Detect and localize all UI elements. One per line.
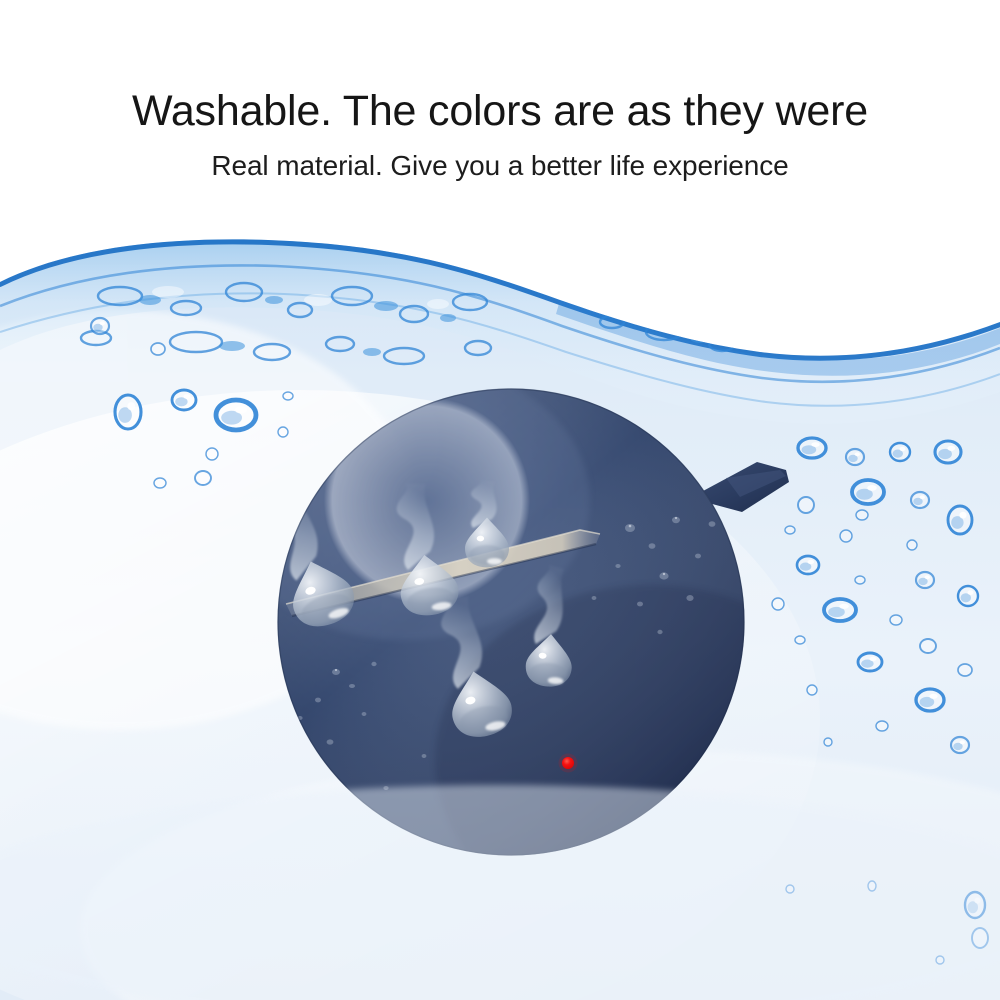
bubble xyxy=(935,441,961,463)
bubble xyxy=(890,615,902,625)
bubble xyxy=(91,318,109,334)
foreground-water-veil xyxy=(0,785,1000,1000)
bubble xyxy=(795,636,805,644)
bubble xyxy=(283,392,293,400)
bubble xyxy=(916,689,944,711)
bubble xyxy=(958,586,978,606)
bubble xyxy=(807,685,817,695)
bubble xyxy=(916,572,934,588)
water-scene xyxy=(0,0,1000,1000)
bubble xyxy=(911,492,929,508)
bubble xyxy=(195,471,211,485)
bubble xyxy=(278,427,288,437)
bubble xyxy=(846,449,864,465)
bubble xyxy=(154,478,166,488)
bubble xyxy=(890,443,910,461)
bubble xyxy=(907,540,917,550)
bubble xyxy=(852,480,884,504)
bubble xyxy=(876,721,888,731)
water-scene-svg xyxy=(0,0,1000,1000)
bubble xyxy=(772,598,784,610)
bubble xyxy=(206,448,218,460)
bubble xyxy=(151,343,165,355)
bubble xyxy=(785,526,795,534)
red-power-led-glow xyxy=(559,754,578,773)
droplet-highlight xyxy=(477,536,484,542)
bubble xyxy=(856,510,868,520)
bubble xyxy=(951,737,969,753)
bubble xyxy=(115,395,141,429)
droplet-caustic xyxy=(487,558,502,564)
bubble xyxy=(858,653,882,671)
product-banner: Washable. The colors are as they were Re… xyxy=(0,0,1000,1000)
bubble xyxy=(920,639,936,653)
bubble xyxy=(216,400,256,430)
bubble xyxy=(824,738,832,746)
bubble xyxy=(958,664,972,676)
bubble xyxy=(948,506,972,534)
bubble xyxy=(172,390,196,410)
bubble xyxy=(798,438,826,458)
bubble xyxy=(855,576,865,584)
bubble xyxy=(824,599,856,621)
bubble xyxy=(797,556,819,574)
bubble xyxy=(840,530,852,542)
bubble xyxy=(798,497,814,513)
